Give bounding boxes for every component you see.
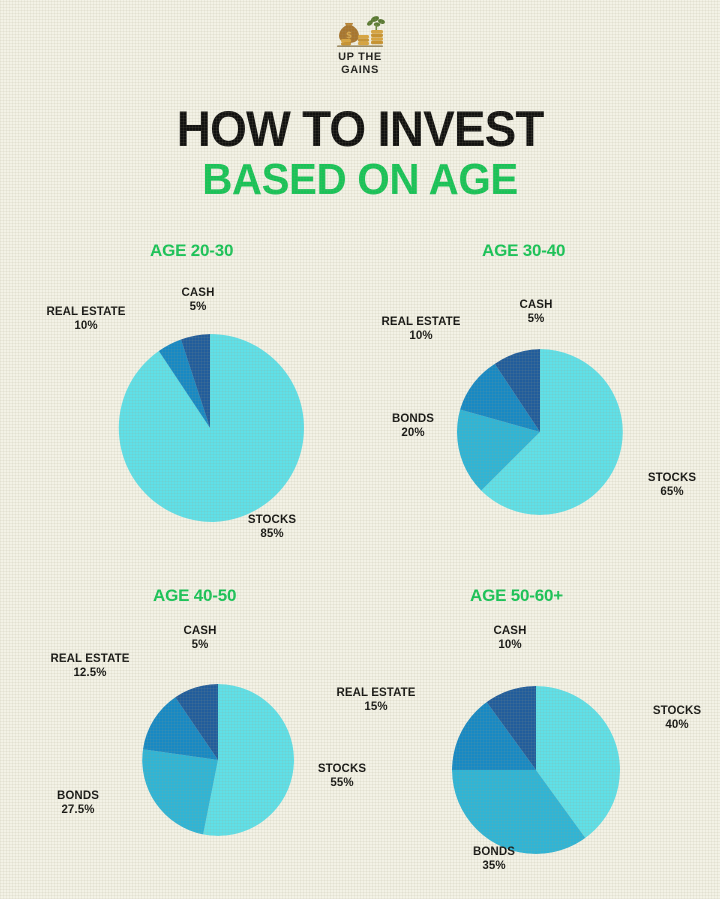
page-title: HOW TO INVEST BASED ON AGE [0,103,720,205]
pie-label-real-estate-pct: 15% [312,700,440,714]
pie-label-cash-age-30-40: CASH 5% [481,298,591,326]
pie-label-real-estate-name: REAL ESTATE [46,306,125,318]
pie-slice-stocks [119,334,304,522]
brand-line-2: GAINS [0,64,720,77]
pie-label-bonds-age-50-60: BONDS 35% [452,845,536,873]
pie-label-cash-name: CASH [182,287,215,299]
pie-label-real-estate-pct: 10% [22,319,150,333]
pie-label-stocks-pct: 65% [633,485,711,499]
brand-logo: $ UP THE GAINS [0,14,720,77]
pie-label-bonds-age-30-40: BONDS 20% [373,412,453,440]
pie-label-cash-pct: 10% [455,638,565,652]
pie-label-bonds-name: BONDS [473,846,515,858]
pie-label-bonds-pct: 35% [452,859,536,873]
pie-label-bonds-age-40-50: BONDS 27.5% [36,789,120,817]
pie-label-cash-pct: 5% [145,638,255,652]
pie-label-cash-name: CASH [520,299,553,311]
pie-label-stocks-age-50-60: STOCKS 40% [638,704,716,732]
pie-label-cash-age-50-60: CASH 10% [455,624,565,652]
pie-label-stocks-name: STOCKS [653,705,701,717]
pie-label-bonds-name: BONDS [57,790,99,802]
pie-label-real-estate-name: REAL ESTATE [336,687,415,699]
pie-label-real-estate-age-20-30: REAL ESTATE 10% [22,305,150,333]
pie-label-cash-age-20-30: CASH 5% [143,286,253,314]
chart-title-age-30-40: AGE 30-40 [482,241,565,261]
pie-label-real-estate-pct: 10% [357,329,485,343]
pie-label-real-estate-age-50-60: REAL ESTATE 15% [312,686,440,714]
pie-label-cash-pct: 5% [143,300,253,314]
pie-label-stocks-pct: 40% [638,718,716,732]
pie-label-real-estate-age-30-40: REAL ESTATE 10% [357,315,485,343]
pie-chart-age-40-50 [142,684,294,836]
pie-label-bonds-pct: 20% [373,426,453,440]
pie-label-real-estate-name: REAL ESTATE [50,653,129,665]
title-line-2: BASED ON AGE [18,155,702,205]
pie-label-stocks-pct: 55% [303,776,381,790]
pie-label-stocks-age-40-50: STOCKS 55% [303,762,381,790]
pie-label-cash-age-40-50: CASH 5% [145,624,255,652]
pie-label-stocks-name: STOCKS [648,472,696,484]
pie-chart-age-50-60 [452,686,620,854]
pie-label-real-estate-pct: 12.5% [26,666,154,680]
pie-label-cash-name: CASH [184,625,217,637]
pie-label-stocks-age-20-30: STOCKS 85% [217,513,327,541]
pie-label-cash-pct: 5% [481,312,591,326]
pie-chart-age-30-40 [457,349,623,515]
pie-label-bonds-pct: 27.5% [36,803,120,817]
title-line-1: HOW TO INVEST [18,103,702,155]
pie-label-real-estate-age-40-50: REAL ESTATE 12.5% [26,652,154,680]
chart-title-age-20-30: AGE 20-30 [150,241,233,261]
pie-label-stocks-name: STOCKS [248,514,296,526]
chart-title-age-40-50: AGE 40-50 [153,586,236,606]
money-bag-coins-plant-icon: $ [333,14,387,48]
pie-label-stocks-age-30-40: STOCKS 65% [633,471,711,499]
pie-label-stocks-name: STOCKS [318,763,366,775]
pie-label-real-estate-name: REAL ESTATE [381,316,460,328]
pie-chart-age-20-30 [116,334,304,522]
chart-title-age-50-60: AGE 50-60+ [470,586,563,606]
brand-line-1: UP THE [0,51,720,64]
pie-label-cash-name: CASH [494,625,527,637]
pie-label-stocks-pct: 85% [217,527,327,541]
pie-label-bonds-name: BONDS [392,413,434,425]
